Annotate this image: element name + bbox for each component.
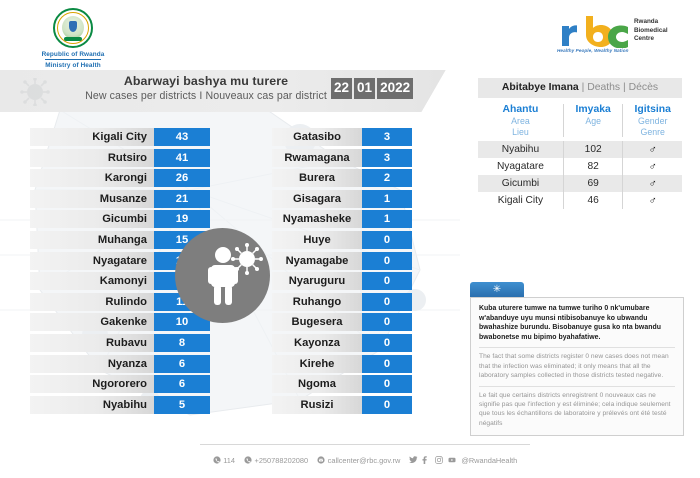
death-gender: ♂	[623, 161, 682, 173]
death-age: 69	[563, 175, 624, 192]
district-case-count: 2	[362, 169, 412, 187]
district-name: Nyagatare	[30, 252, 154, 270]
rbc-wordmark-icon	[556, 14, 630, 48]
death-area: Gicumbi	[478, 178, 563, 189]
district-name: Musanze	[30, 190, 154, 208]
footer-contacts: 114 +250788202080 callcenter@rbc.gov.rw	[200, 452, 530, 468]
district-name: Nyaruguru	[272, 272, 362, 290]
phone-short-label: 114	[223, 456, 235, 465]
district-row: Gicumbi19	[30, 210, 210, 228]
phone-long-label: +250788202080	[255, 456, 309, 465]
social-links: @RwandaHealth	[409, 456, 517, 465]
district-name: Nyabihu	[30, 396, 154, 414]
district-name: Nyamagabe	[272, 252, 362, 270]
deaths-table-row: Nyabihu102♂	[478, 141, 682, 158]
district-row: Ngororero6	[30, 375, 210, 393]
death-age: 46	[563, 192, 624, 209]
district-name: Gisagara	[272, 190, 362, 208]
district-name: Nyanza	[30, 355, 154, 373]
infographic-page: Republic of Rwanda Ministry of Health He…	[0, 0, 700, 478]
moh-line2: Ministry of Health	[45, 62, 100, 69]
death-age: 102	[563, 141, 624, 158]
patient-graphic	[175, 228, 270, 323]
rbc-word2: Biomedical	[634, 27, 668, 36]
district-name: Kamonyi	[30, 272, 154, 290]
rbc-name: Rwanda Biomedical Centre	[634, 18, 668, 44]
date-day: 22	[331, 78, 352, 99]
district-row: Rusizi0	[272, 396, 412, 414]
social-handle-label: @RwandaHealth	[461, 456, 517, 465]
district-case-count: 0	[362, 293, 412, 311]
district-name: Gicumbi	[30, 210, 154, 228]
district-case-count: 5	[154, 396, 210, 414]
ministry-of-health-logo: Republic of Rwanda Ministry of Health	[35, 8, 111, 70]
district-row: Muhanga15	[30, 231, 210, 249]
district-case-count: 41	[154, 149, 210, 167]
death-age: 82	[563, 158, 624, 175]
district-row: Burera2	[272, 169, 412, 187]
district-case-count: 8	[154, 334, 210, 352]
asterisk-icon: ✳	[470, 282, 524, 297]
district-case-count: 3	[362, 128, 412, 146]
district-name: Kayonza	[272, 334, 362, 352]
moh-line1: Republic of Rwanda	[35, 50, 111, 59]
deaths-sep-2: |	[623, 82, 626, 93]
death-gender: ♂	[623, 195, 682, 207]
district-case-count: 0	[362, 272, 412, 290]
district-case-count: 0	[362, 313, 412, 331]
facebook-icon[interactable]	[422, 456, 430, 464]
district-case-count: 0	[362, 231, 412, 249]
district-name: Kigali City	[30, 128, 154, 146]
phone-icon	[213, 456, 221, 464]
death-area: Kigali City	[478, 195, 563, 206]
district-row: Nyamasheke1	[272, 210, 412, 228]
date-year: 2022	[377, 78, 413, 99]
district-row: Nyabihu5	[30, 396, 210, 414]
district-name: Ngoma	[272, 375, 362, 393]
note-text-rw: Kuba uturere tumwe na tumwe turiho 0 nk'…	[479, 304, 675, 342]
deaths-table-row: Kigali City46♂	[478, 192, 682, 209]
district-case-count: 19	[154, 210, 210, 228]
district-case-count: 43	[154, 128, 210, 146]
deaths-col-age: Imyaka Age	[563, 104, 624, 137]
district-name: Karongi	[30, 169, 154, 187]
district-name: Ngororero	[30, 375, 154, 393]
district-name: Gatasibo	[272, 128, 362, 146]
district-case-count: 0	[362, 355, 412, 373]
district-row: Gakenke10	[30, 313, 210, 331]
coronavirus-icon	[230, 242, 264, 281]
deaths-sep-1: |	[582, 82, 585, 93]
deaths-table-header: Ahantu Area Lieu Imyaka Age Igitsina Gen…	[478, 99, 682, 141]
district-list-right: Gatasibo3Rwamagana3Burera2Gisagara1Nyama…	[272, 128, 412, 416]
whatsapp-contact[interactable]: +250788202080	[244, 456, 308, 465]
district-name: Nyamasheke	[272, 210, 362, 228]
mail-icon	[317, 456, 325, 464]
report-date: 22 01 2022	[331, 78, 413, 99]
district-row: Musanze21	[30, 190, 210, 208]
death-gender: ♂	[623, 144, 682, 156]
rbc-tagline: Healthy People, Wealthy Nation	[557, 48, 629, 53]
district-row: Nyaruguru0	[272, 272, 412, 290]
district-row: Rubavu8	[30, 334, 210, 352]
note-text-en: The fact that some districts register 0 …	[479, 352, 675, 380]
deaths-table: Ahantu Area Lieu Imyaka Age Igitsina Gen…	[478, 99, 682, 209]
whatsapp-icon	[244, 456, 252, 464]
district-case-count: 6	[154, 375, 210, 393]
twitter-icon[interactable]	[409, 456, 417, 464]
death-area: Nyabihu	[478, 144, 563, 155]
district-case-count: 26	[154, 169, 210, 187]
death-gender: ♂	[623, 178, 682, 190]
district-row: Karongi26	[30, 169, 210, 187]
deaths-table-row: Nyagatare82♂	[478, 158, 682, 175]
district-row: Kayonza0	[272, 334, 412, 352]
district-row: Bugesera0	[272, 313, 412, 331]
district-name: Rusizi	[272, 396, 362, 414]
footer-divider	[200, 444, 530, 445]
district-row: Gatasibo3	[272, 128, 412, 146]
phone-short-contact[interactable]: 114	[213, 456, 235, 465]
district-case-count: 0	[362, 396, 412, 414]
deaths-heading-rw: Abitabye Imana	[502, 82, 579, 93]
deaths-col-area: Ahantu Area Lieu	[478, 104, 563, 137]
district-row: Ruhango0	[272, 293, 412, 311]
district-name: Burera	[272, 169, 362, 187]
district-name: Kirehe	[272, 355, 362, 373]
district-case-count: 0	[362, 375, 412, 393]
district-case-count: 3	[362, 149, 412, 167]
district-case-count: 0	[362, 252, 412, 270]
youtube-icon[interactable]	[448, 456, 456, 464]
district-case-count: 1	[362, 210, 412, 228]
district-name: Ruhango	[272, 293, 362, 311]
district-row: Gisagara1	[272, 190, 412, 208]
deaths-heading-en: Deaths	[587, 82, 620, 93]
rwanda-coat-of-arms-icon	[53, 8, 93, 48]
deaths-heading-fr: Décès	[629, 82, 658, 93]
email-label: callcenter@rbc.gov.rw	[328, 456, 401, 465]
deaths-table-row: Gicumbi69♂	[478, 175, 682, 192]
rbc-word3: Centre	[634, 35, 668, 44]
district-row: Kirehe0	[272, 355, 412, 373]
district-name: Bugesera	[272, 313, 362, 331]
district-name: Rwamagana	[272, 149, 362, 167]
instagram-icon[interactable]	[435, 456, 443, 464]
district-name: Muhanga	[30, 231, 154, 249]
district-row: Rwamagana3	[272, 149, 412, 167]
district-name: Huye	[272, 231, 362, 249]
note-text-fr: Le fait que certains districts enregistr…	[479, 391, 675, 429]
district-case-count: 21	[154, 190, 210, 208]
death-area: Nyagatare	[478, 161, 563, 172]
district-row: Rutsiro41	[30, 149, 210, 167]
date-month: 01	[354, 78, 375, 99]
rbc-logo: Healthy People, Wealthy Nation Rwanda Bi…	[556, 12, 671, 56]
email-contact[interactable]: callcenter@rbc.gov.rw	[317, 456, 400, 465]
district-case-count: 0	[362, 334, 412, 352]
district-case-count: 1	[362, 190, 412, 208]
district-row: Nyamagabe0	[272, 252, 412, 270]
deaths-col-gender: Igitsina Gender Genre	[623, 104, 682, 137]
district-case-count: 6	[154, 355, 210, 373]
district-row: Nyanza6	[30, 355, 210, 373]
clarification-note: ✳ Kuba uturere tumwe na tumwe turiho 0 n…	[470, 282, 684, 436]
district-row: Huye0	[272, 231, 412, 249]
rbc-word1: Rwanda	[634, 18, 668, 27]
district-name: Gakenke	[30, 313, 154, 331]
district-name: Rubavu	[30, 334, 154, 352]
district-name: Rulindo	[30, 293, 154, 311]
district-name: Rutsiro	[30, 149, 154, 167]
district-row: Ngoma0	[272, 375, 412, 393]
deaths-panel-header: Abitabye Imana | Deaths | Décès	[478, 78, 682, 98]
district-row: Kigali City43	[30, 128, 210, 146]
